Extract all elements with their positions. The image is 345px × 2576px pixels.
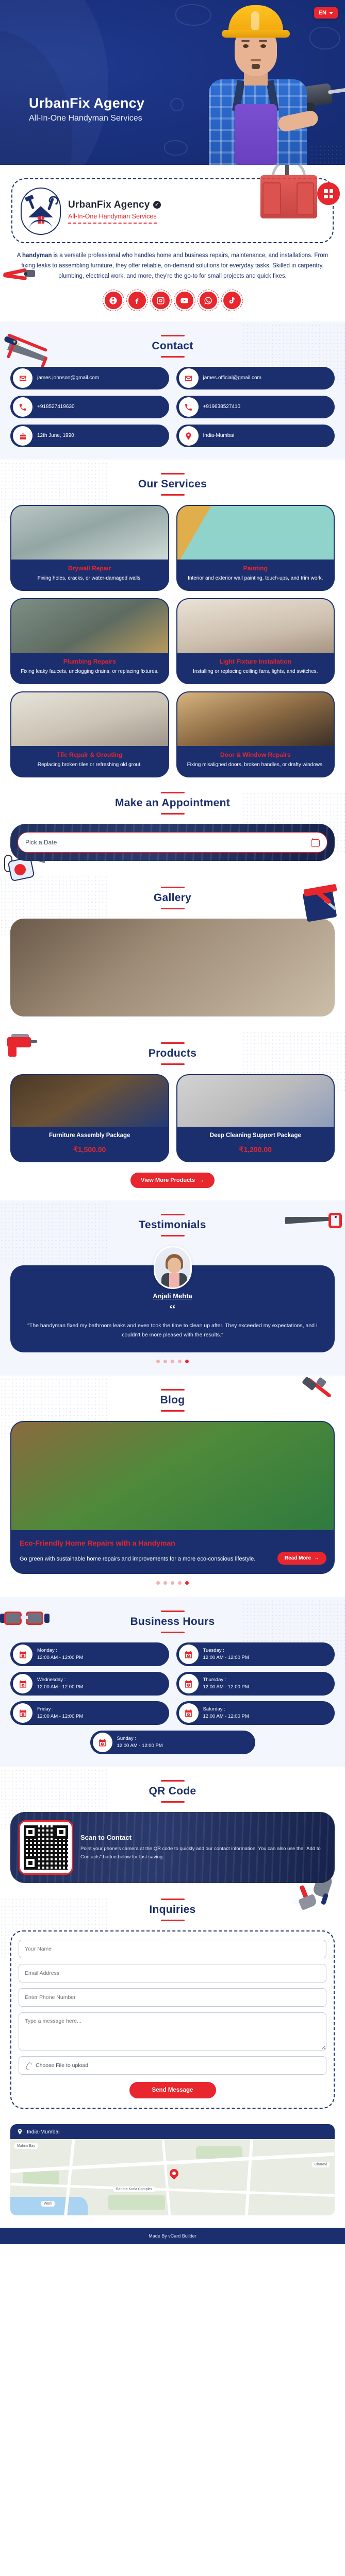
carousel-dot[interactable] — [163, 1360, 167, 1363]
map-park — [108, 2195, 165, 2210]
business-hours-time: 12:00 AM - 12:00 PM — [203, 1654, 249, 1662]
map-place-label: Dharavi — [312, 2162, 330, 2167]
carousel-dot-active[interactable] — [185, 1581, 189, 1585]
business-hours-day: Wednesday : — [37, 1676, 83, 1684]
gear-icon — [170, 98, 184, 111]
profile-name: UrbanFix Agency — [68, 199, 150, 211]
social-instagram-icon[interactable] — [152, 292, 170, 309]
business-hours-time: 12:00 AM - 12:00 PM — [37, 1684, 83, 1691]
email-icon — [13, 368, 32, 388]
map-road — [10, 2183, 335, 2197]
business-hours-section: Business Hours Monday : 12:00 AM - 12:00… — [0, 1597, 345, 1767]
pliers-illustration — [3, 266, 36, 283]
business-hours-row: Monday : 12:00 AM - 12:00 PM — [10, 1642, 169, 1666]
business-hours-time: 12:00 AM - 12:00 PM — [203, 1713, 249, 1720]
testimonials-carousel-dots — [10, 1360, 335, 1363]
map-place-label: Mahim Bay — [14, 2143, 38, 2149]
phone-input[interactable] — [19, 1988, 326, 2007]
qr-finder-icon — [24, 1825, 37, 1839]
services-section: Our Services Drywall Repair Fixing holes… — [0, 460, 345, 790]
hero-worker-illustration — [203, 3, 332, 165]
business-hours-day: Friday : — [37, 1706, 83, 1713]
business-hours-day: Thursday : — [203, 1676, 249, 1684]
gallery-image[interactable] — [10, 919, 335, 1016]
blog-section: Blog Eco-Friendly Home Repairs with a Ha… — [0, 1376, 345, 1598]
business-hours-day: Saturday : — [203, 1706, 249, 1713]
footer: Made By vCard Builder — [0, 2228, 345, 2244]
file-upload-label: Choose File to upload — [36, 2062, 88, 2069]
carousel-dot[interactable] — [171, 1581, 174, 1585]
hero-title: UrbanFix Agency — [29, 95, 144, 111]
business-hours-time: 12:00 AM - 12:00 PM — [203, 1684, 249, 1691]
service-desc: Installing or replacing ceiling fans, li… — [183, 668, 329, 676]
house-roof-icon — [28, 206, 53, 217]
calendar-clock-icon — [179, 1703, 199, 1723]
gallery-section: Gallery — [0, 873, 345, 1029]
products-list: Furniture Assembly Package ₹1,500.00 Dee… — [10, 1074, 335, 1162]
service-desc: Interior and exterior wall painting, tou… — [183, 574, 329, 583]
appointment-section: Make an Appointment Pick a Date — [0, 790, 345, 873]
hero-subtitle: All-In-One Handyman Services — [29, 114, 144, 123]
service-card[interactable]: Tile Repair & Grouting Replacing broken … — [10, 691, 169, 777]
social-website-icon[interactable] — [105, 292, 122, 309]
page-title-qr: QR Code — [10, 1785, 335, 1798]
qr-code-image[interactable] — [19, 1820, 73, 1875]
map-marker-pin[interactable] — [168, 2167, 180, 2180]
page-title-testimonials: Testimonials — [10, 1219, 335, 1231]
product-price: ₹1,500.00 — [15, 1145, 164, 1154]
verified-badge-icon: ✓ — [153, 201, 161, 209]
service-name: Door & Window Repairs — [183, 751, 329, 758]
email-input[interactable] — [19, 1964, 326, 1982]
name-input[interactable] — [19, 1940, 326, 1958]
business-hours-time: 12:00 AM - 12:00 PM — [117, 1742, 163, 1750]
business-hours-day: Tuesday : — [203, 1647, 249, 1654]
calendar-clock-icon — [13, 1645, 32, 1664]
map-section: India-Mumbai Mahim Bay Dharavi Bandra Ku… — [0, 2121, 345, 2228]
map-place-label: Bandra Kurla Complex — [113, 2187, 155, 2192]
appointment-banner: Pick a Date — [10, 824, 335, 861]
products-section: Products Furniture Assembly Package ₹1,5… — [0, 1029, 345, 1200]
read-more-button[interactable]: Read More → — [277, 1552, 326, 1565]
business-hours-row: Tuesday : 12:00 AM - 12:00 PM — [176, 1642, 335, 1666]
calendar-clock-icon — [13, 1703, 32, 1723]
service-card[interactable]: Door & Window Repairs Fixing misaligned … — [176, 691, 335, 777]
product-name: Furniture Assembly Package — [15, 1132, 164, 1140]
company-logo — [21, 188, 61, 235]
business-hours-row: Saturday : 12:00 AM - 12:00 PM — [176, 1701, 335, 1725]
social-links — [11, 292, 334, 312]
product-card[interactable]: Furniture Assembly Package ₹1,500.00 — [10, 1074, 169, 1162]
vcard-page: EN UrbanFix Agency All-In-One Handyman S… — [0, 0, 345, 2244]
contact-phone-2[interactable]: +919638527410 — [176, 396, 335, 418]
calendar-icon[interactable] — [311, 838, 320, 847]
blog-card[interactable]: Eco-Friendly Home Repairs with a Handyma… — [10, 1421, 335, 1574]
page-title-business-hours: Business Hours — [10, 1616, 335, 1628]
quote-icon: “ — [21, 1303, 324, 1317]
qr-finder-icon — [55, 1825, 68, 1839]
business-hours-day: Sunday : — [117, 1735, 163, 1742]
business-hours-day: Monday : — [37, 1647, 83, 1654]
carousel-dot[interactable] — [156, 1581, 160, 1585]
service-name: Plumbing Repairs — [17, 658, 163, 665]
chevron-down-icon — [329, 12, 333, 14]
business-hours-row-sunday: Sunday : 12:00 AM - 12:00 PM — [90, 1731, 255, 1754]
service-desc: Fixing holes, cracks, or water-damaged w… — [17, 574, 163, 583]
page-title-gallery: Gallery — [10, 892, 335, 904]
service-card[interactable]: Painting Interior and exterior wall pain… — [176, 505, 335, 591]
service-desc: Replacing broken tiles or refreshing old… — [17, 761, 163, 769]
blog-carousel-dots — [10, 1581, 335, 1585]
calendar-clock-icon — [179, 1645, 199, 1664]
qr-card-title: Scan to Contact — [80, 1834, 326, 1841]
product-card[interactable]: Deep Cleaning Support Package ₹1,200.00 — [176, 1074, 335, 1162]
service-desc: Fixing misaligned doors, broken handles,… — [183, 761, 329, 769]
carousel-dot[interactable] — [178, 1360, 182, 1363]
business-hours-row: Thursday : 12:00 AM - 12:00 PM — [176, 1672, 335, 1696]
carousel-dot-active[interactable] — [185, 1360, 189, 1363]
product-price: ₹1,200.00 — [182, 1145, 330, 1154]
arrow-right-icon: → — [199, 1177, 204, 1183]
page-title-inquiries: Inquiries — [10, 1904, 335, 1916]
message-textarea[interactable] — [19, 2012, 326, 2050]
contact-email-1[interactable]: james.johnson@gmail.com — [10, 367, 169, 389]
language-selector[interactable]: EN — [314, 7, 338, 19]
calendar-clock-icon — [93, 1733, 112, 1752]
carousel-dot[interactable] — [156, 1360, 160, 1363]
qr-finder-icon — [24, 1856, 37, 1870]
map-viewport[interactable]: Mahim Bay Dharavi Bandra Kurla Complex W… — [10, 2139, 335, 2215]
testimonials-section: Testimonials Anjali Mehta “ "The handyma… — [0, 1200, 345, 1376]
page-title-products: Products — [10, 1047, 335, 1060]
contact-phone-1[interactable]: +918527419630 — [10, 396, 169, 418]
service-card[interactable]: Plumbing Repairs Fixing leaky faucets, u… — [10, 598, 169, 684]
qr-card: Scan to Contact Point your phone's camer… — [10, 1812, 335, 1883]
page-title-appointment: Make an Appointment — [10, 797, 335, 809]
carousel-dot[interactable] — [178, 1581, 182, 1585]
phone-icon — [13, 397, 32, 417]
page-title-blog: Blog — [10, 1394, 335, 1406]
contact-list: james.johnson@gmail.com james.official@g… — [10, 367, 335, 447]
profile-tagline: All-In-One Handyman Services — [68, 213, 157, 224]
social-whatsapp-icon[interactable] — [200, 292, 217, 309]
business-hours-time: 12:00 AM - 12:00 PM — [37, 1713, 83, 1720]
profile-section: UrbanFix Agency ✓ All-In-One Handyman Se… — [0, 165, 345, 321]
contact-location[interactable]: India-Mumbai — [176, 425, 335, 447]
menu-grid-button[interactable] — [317, 182, 340, 205]
avatar — [154, 1246, 192, 1289]
location-icon — [17, 2128, 23, 2135]
testimonial-author: Anjali Mehta — [21, 1292, 324, 1300]
service-card[interactable]: Light Fixture Installation Installing or… — [176, 598, 335, 684]
map-header: India-Mumbai — [10, 2124, 335, 2139]
inquiry-form: Choose File to upload Send Message — [10, 1930, 335, 2109]
service-name: Drywall Repair — [17, 565, 163, 572]
map-location-label: India-Mumbai — [27, 2129, 60, 2135]
view-more-products-button[interactable]: View More Products → — [130, 1173, 215, 1188]
business-hours-time: 12:00 AM - 12:00 PM — [37, 1654, 83, 1662]
send-message-button[interactable]: Send Message — [129, 2082, 216, 2098]
hero-decor-blob — [164, 140, 188, 156]
grid-icon — [324, 189, 333, 198]
business-hours-row: Wednesday : 12:00 AM - 12:00 PM — [10, 1672, 169, 1696]
calendar-clock-icon — [179, 1674, 199, 1693]
cake-icon — [13, 426, 32, 446]
qr-card-description: Point your phone's camera at the QR code… — [80, 1845, 326, 1861]
contact-section: Contact james.johnson@gmail.com james.of… — [0, 321, 345, 460]
product-name: Deep Cleaning Support Package — [182, 1132, 330, 1140]
paint-roller-illustration — [301, 884, 341, 926]
paperclip-icon — [25, 2062, 31, 2069]
contact-birthday[interactable]: 12th June, 1990 — [10, 425, 169, 447]
service-desc: Fixing leaky faucets, unclogging drains,… — [17, 668, 163, 676]
file-upload-button[interactable]: Choose File to upload — [19, 2056, 326, 2075]
page-title-contact: Contact — [10, 340, 335, 352]
blog-post-title: Eco-Friendly Home Repairs with a Handyma… — [20, 1538, 325, 1548]
services-list: Drywall Repair Fixing holes, cracks, or … — [10, 505, 335, 777]
date-picker-input[interactable]: Pick a Date — [18, 832, 327, 853]
business-hours-row: Friday : 12:00 AM - 12:00 PM — [10, 1701, 169, 1725]
social-tiktok-icon[interactable] — [223, 292, 241, 309]
contact-email-2[interactable]: james.official@gmail.com — [176, 367, 335, 389]
inquiries-section: Inquiries Choose File to upload Send Mes… — [0, 1895, 345, 2121]
about-description: A handyman is a versatile professional w… — [11, 250, 334, 281]
service-name: Painting — [183, 565, 329, 572]
social-facebook-icon[interactable] — [128, 292, 146, 309]
phone-icon — [179, 397, 199, 417]
service-card[interactable]: Drywall Repair Fixing holes, cracks, or … — [10, 505, 169, 591]
carousel-dot[interactable] — [171, 1360, 174, 1363]
social-youtube-icon[interactable] — [176, 292, 193, 309]
date-placeholder: Pick a Date — [25, 839, 57, 846]
qr-section: QR Code Scan to Contact Point your phone… — [0, 1767, 345, 1895]
map-card: India-Mumbai Mahim Bay Dharavi Bandra Ku… — [10, 2124, 335, 2215]
arrow-right-icon: → — [314, 1555, 319, 1561]
map-place-label: Worli — [41, 2201, 55, 2207]
hero-banner: EN UrbanFix Agency All-In-One Handyman S… — [0, 0, 345, 165]
email-icon — [179, 368, 199, 388]
calendar-clock-icon — [13, 1674, 32, 1693]
testimonial-text: "The handyman fixed my bathroom leaks an… — [21, 1321, 324, 1340]
map-road — [245, 2139, 253, 2215]
service-name: Light Fixture Installation — [183, 658, 329, 665]
business-hours-list: Monday : 12:00 AM - 12:00 PM Tuesday : 1… — [10, 1642, 335, 1754]
page-title-services: Our Services — [10, 478, 335, 490]
language-label: EN — [319, 10, 326, 16]
carousel-dot[interactable] — [163, 1581, 167, 1585]
location-icon — [179, 426, 199, 446]
service-name: Tile Repair & Grouting — [17, 751, 163, 758]
